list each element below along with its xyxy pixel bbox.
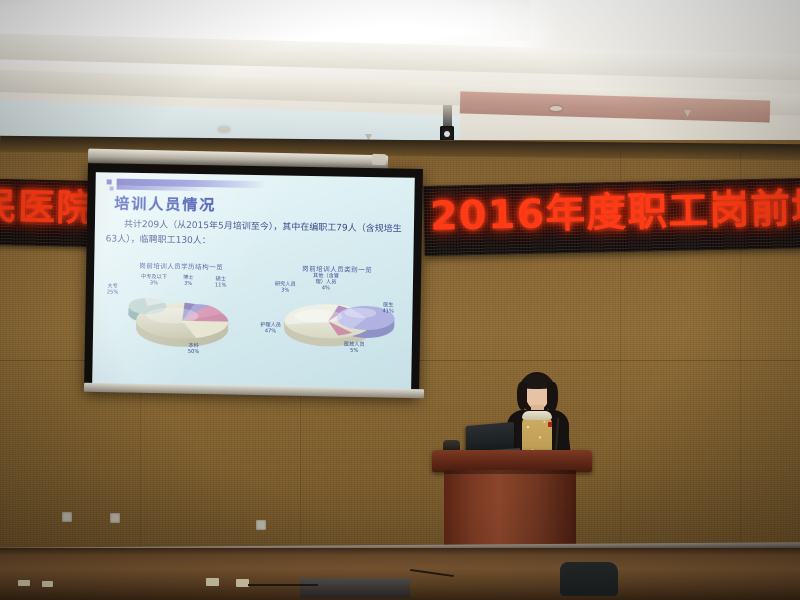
pie-chart-education: 岗前培训人员学历结构一览 xyxy=(103,259,257,370)
led-banner-left: 民医院 xyxy=(0,179,101,247)
slide-square-icon xyxy=(110,186,114,190)
presenter-hair-side xyxy=(517,382,527,410)
presenter-hair-side xyxy=(547,382,558,412)
projection-screen: 培训人员情况 共计209人（从2015年5月培训至今），其中在编职工79人（含规… xyxy=(84,163,423,397)
pie-label-benke: 本科50% xyxy=(188,343,200,355)
floor-equipment xyxy=(300,578,410,598)
projector-lens-icon xyxy=(444,131,450,137)
led-banner-right: ···· ···· ·· ··· · ·· ···· ·· ··· 2016年度… xyxy=(423,178,800,256)
pie-chart-education-graphic: 大专25% 中专及以下3% 博士3% 硕士11% xyxy=(104,269,258,360)
wall-outlet[interactable] xyxy=(62,512,72,522)
pie-label-dazhuan: 大专25% xyxy=(107,283,119,295)
pie-education-svg xyxy=(104,269,258,360)
slide-title: 培训人员情况 xyxy=(114,193,405,219)
ceiling-spotlight-icon xyxy=(218,127,230,132)
screen-surface: 培训人员情况 共计209人（从2015年5月培训至今），其中在编职工79人（含规… xyxy=(92,172,415,390)
wall-outlet[interactable] xyxy=(256,520,266,530)
pie-label-qita: 其他（含管理）人员4% xyxy=(313,273,339,291)
pie-chart-category-graphic: 研究人员3% 其他（含管理）人员4% 医生41% 医技人员5% xyxy=(260,272,414,363)
podium-edge-shadow xyxy=(444,470,576,474)
ceiling xyxy=(0,0,800,150)
floor-object xyxy=(42,581,53,587)
floor-cable xyxy=(248,584,318,586)
slide-charts-area: 岗前培训人员学历结构一览 xyxy=(101,259,404,374)
led-banner-left-text: 民医院 xyxy=(0,185,95,231)
pie-label-shuoshi: 硕士11% xyxy=(215,276,227,288)
pie-label-huli: 护理人员47% xyxy=(260,322,281,334)
auditorium-photo: 民医院 ···· ···· ·· ··· · ·· ···· ·· ··· 20… xyxy=(0,0,800,600)
floor-bag xyxy=(560,562,618,596)
floor-object xyxy=(206,578,219,586)
floor-object xyxy=(236,579,249,587)
pie-label-yanjiu: 研究人员3% xyxy=(275,281,296,293)
pie-label-boshi: 博士3% xyxy=(183,275,194,287)
pie-label-zhongzhuan: 中专及以下3% xyxy=(141,274,167,286)
screen-roller-cap xyxy=(372,154,386,165)
podium-top-surface xyxy=(432,450,592,472)
presenter-collar xyxy=(522,411,552,420)
powerpoint-slide: 培训人员情况 共计209人（从2015年5月培训至今），其中在编职工79人（含规… xyxy=(92,172,415,390)
led-banner-right-text: 2016年度职工岗前培 xyxy=(429,186,800,238)
ceiling-spotlight-icon xyxy=(550,106,562,111)
pie-label-yiji: 医技人员5% xyxy=(344,342,365,354)
wall-outlet[interactable] xyxy=(110,513,120,523)
pie-chart-category: 岗前培训人员类别一览 xyxy=(259,262,413,373)
slide-header-decoration xyxy=(107,178,406,194)
slide-gradient-bar xyxy=(117,186,209,192)
pie-label-yisheng: 医生41% xyxy=(382,302,394,314)
presenter-badge xyxy=(548,422,552,427)
slide-body-text: 共计209人（从2015年5月培训至今），其中在编职工79人（含规培生63人），… xyxy=(106,217,403,252)
floor-object xyxy=(18,580,30,586)
slide-square-icon xyxy=(107,179,112,184)
